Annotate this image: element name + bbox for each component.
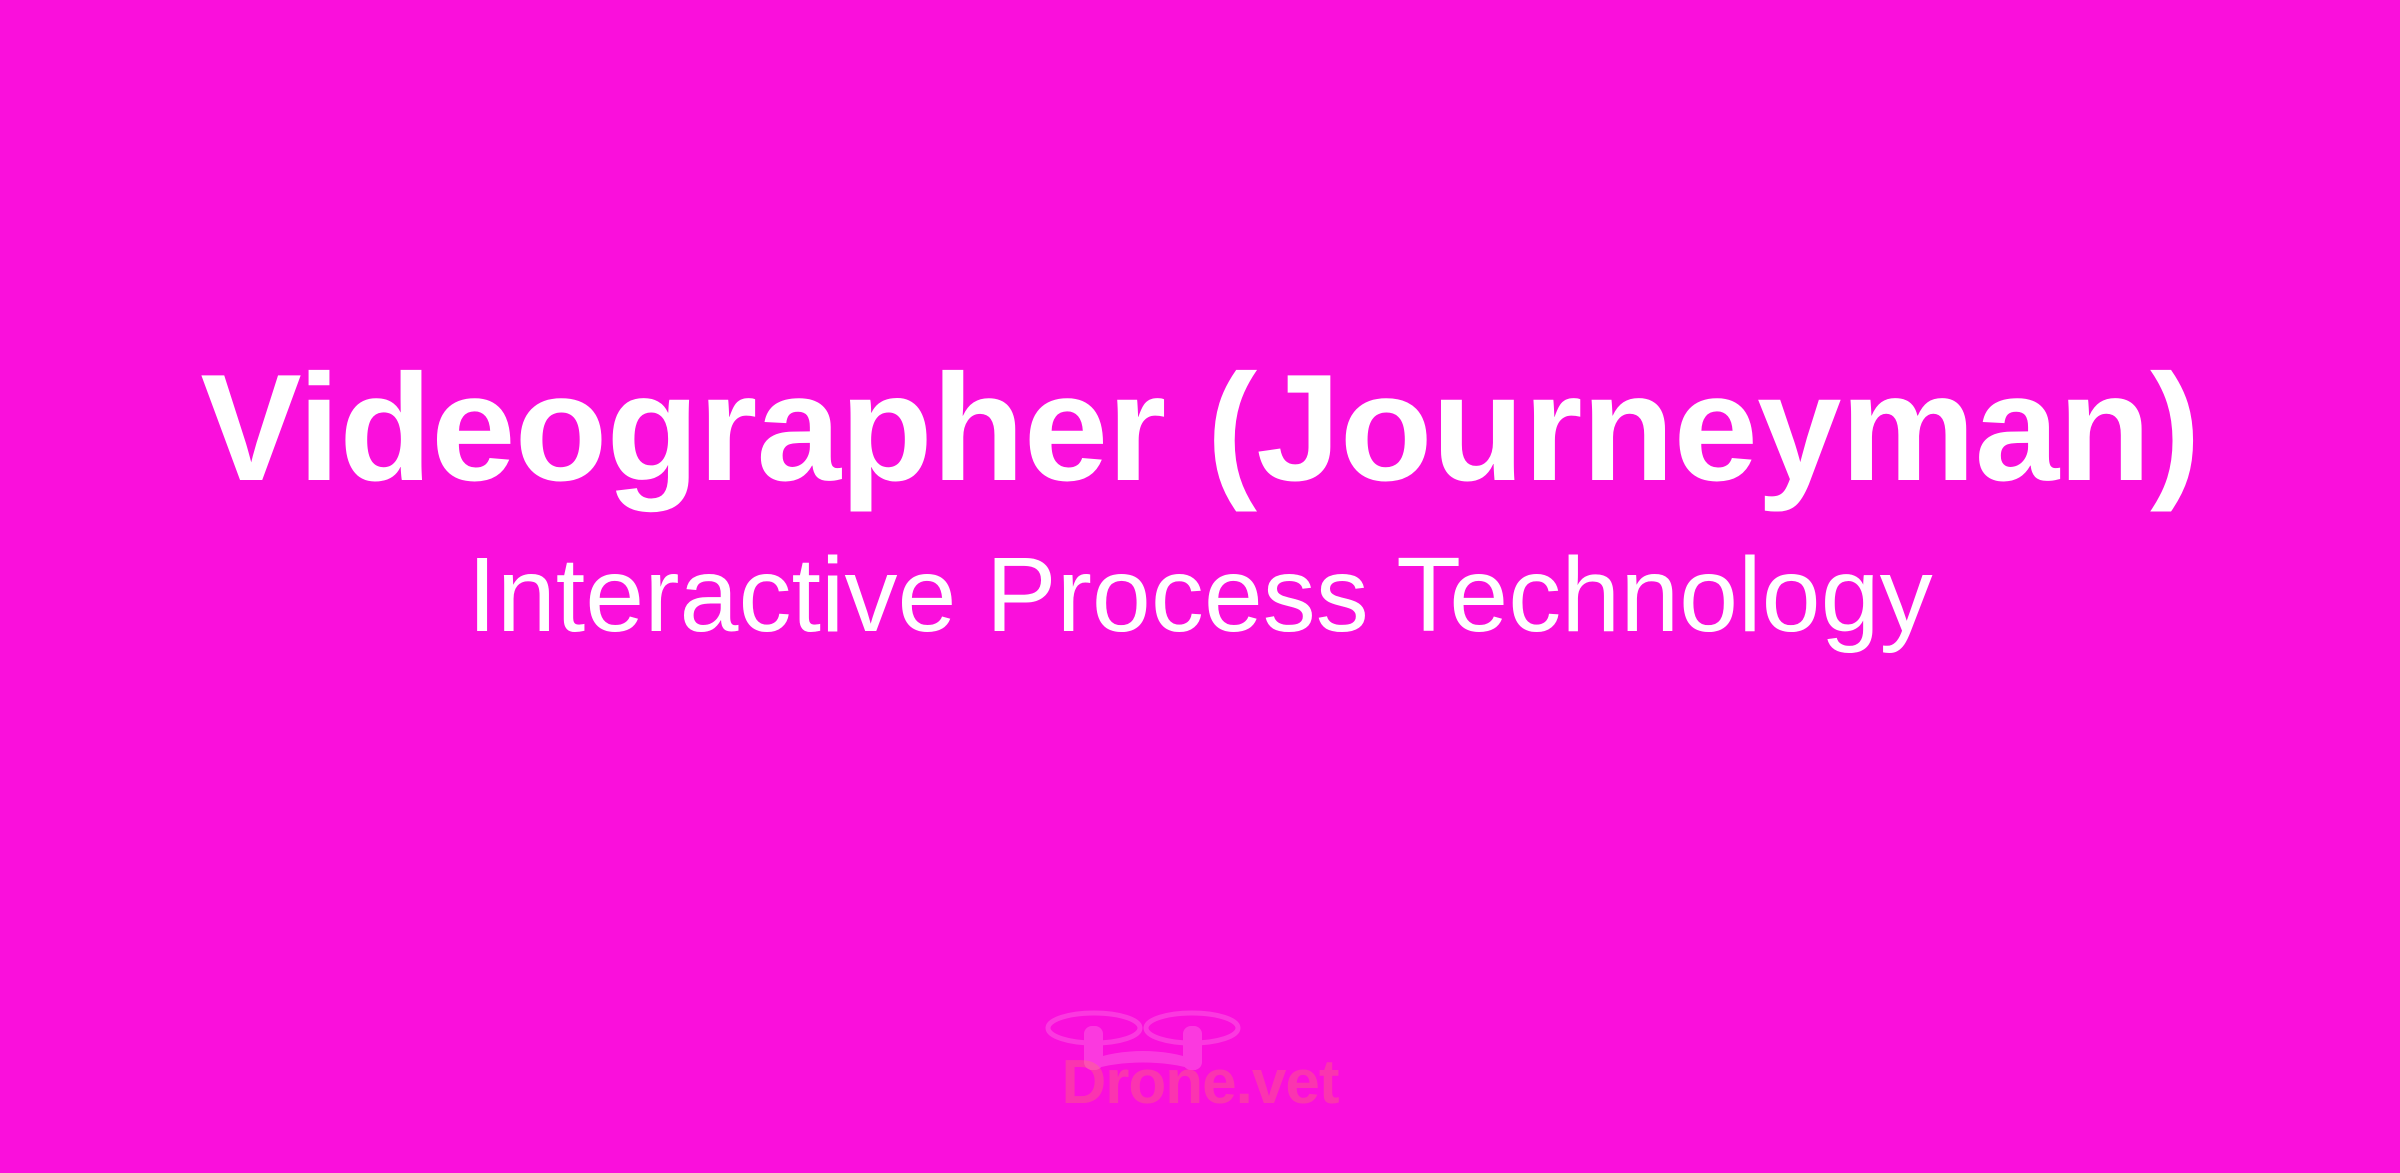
- watermark[interactable]: Drone.vet: [1030, 1004, 1370, 1134]
- page-subtitle: Interactive Process Technology: [467, 542, 1932, 648]
- slide-canvas: Videographer (Journeyman) Interactive Pr…: [0, 0, 2400, 1173]
- watermark-logo: Drone.vet: [1030, 1004, 1370, 1134]
- watermark-wordmark: Drone.vet: [1030, 1052, 1370, 1114]
- page-title: Videographer (Journeyman): [200, 352, 2199, 504]
- title-block: Videographer (Journeyman) Interactive Pr…: [0, 0, 2400, 1000]
